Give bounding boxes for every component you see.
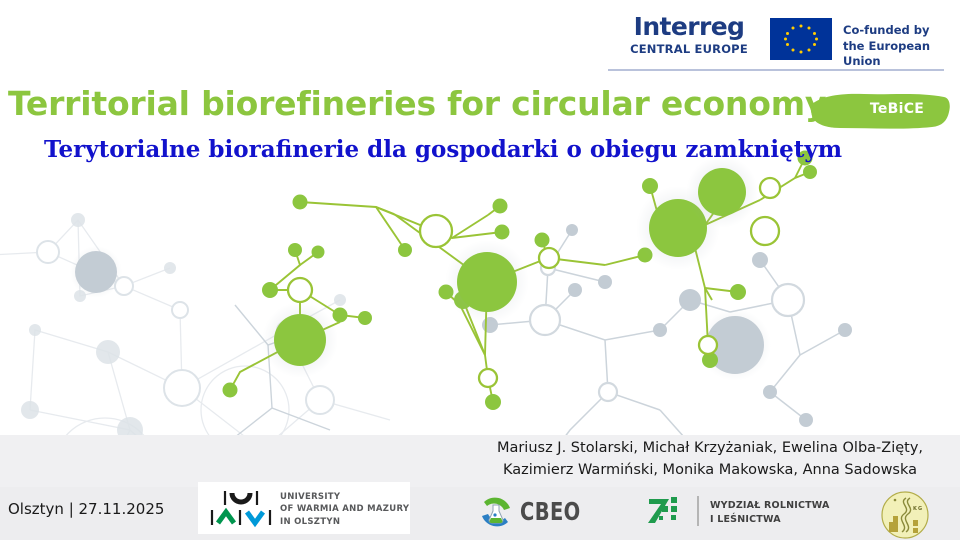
slide-title-polish: Terytorialne biorafinerie dla gospodarki… xyxy=(44,136,904,163)
eu-funding-text: Co-funded by the European Union xyxy=(843,23,948,70)
faculty-mark-icon xyxy=(645,495,685,527)
uwm-line-1: UNIVERSITY xyxy=(280,491,409,503)
uwm-line-2: OF WARMIA AND MAZURY xyxy=(280,503,409,515)
location-date-text: Olsztyn | 27.11.2025 xyxy=(8,500,164,518)
header-divider-rule xyxy=(608,69,944,71)
interreg-wordmark: Interreg xyxy=(625,14,753,39)
faculty-logo: WYDZIAŁ ROLNICTWA I LEŚNICTWA xyxy=(645,492,855,532)
cbeo-emblem-icon xyxy=(478,494,514,530)
interreg-header-block: Interreg CENTRAL EUROPE xyxy=(600,12,948,74)
uwm-name-text: UNIVERSITY OF WARMIA AND MAZURY IN OLSZT… xyxy=(280,491,409,528)
eu-funding-line-2: the European Union xyxy=(843,39,948,70)
cbeo-logo: CBEO xyxy=(478,492,598,532)
department-emblem-icon: K G xyxy=(880,490,930,540)
faculty-line-1: WYDZIAŁ ROLNICTWA xyxy=(710,499,830,513)
faculty-divider xyxy=(697,496,699,526)
slide-title-english: Territorial biorefineries for circular e… xyxy=(8,84,828,123)
faculty-name-text: WYDZIAŁ ROLNICTWA I LEŚNICTWA xyxy=(710,499,830,528)
author-line-1: Mariusz J. Stolarski, Michał Krzyżaniak,… xyxy=(470,437,950,459)
uwm-line-3: IN OLSZTYN xyxy=(280,516,409,528)
uwm-logo: UNIVERSITY OF WARMIA AND MAZURY IN OLSZT… xyxy=(198,482,410,534)
cbeo-wordmark: CBEO xyxy=(520,497,581,526)
svg-text:G: G xyxy=(918,506,922,512)
tebice-project-logo: TeBiCE xyxy=(806,88,954,134)
tebice-label: TeBiCE xyxy=(806,101,954,117)
presentation-slide: Interreg CENTRAL EUROPE xyxy=(0,0,960,540)
interreg-programme-label: CENTRAL EUROPE xyxy=(625,42,753,56)
faculty-line-2: I LEŚNICTWA xyxy=(710,513,830,527)
interreg-logo: Interreg CENTRAL EUROPE xyxy=(625,14,753,56)
uwm-chevron-mark xyxy=(210,488,272,528)
author-line-2: Kazimierz Warmiński, Monika Makowska, An… xyxy=(470,459,950,481)
eu-flag-icon xyxy=(770,18,832,60)
eu-funding-line-1: Co-funded by xyxy=(843,23,948,39)
author-list: Mariusz J. Stolarski, Michał Krzyżaniak,… xyxy=(470,437,950,482)
